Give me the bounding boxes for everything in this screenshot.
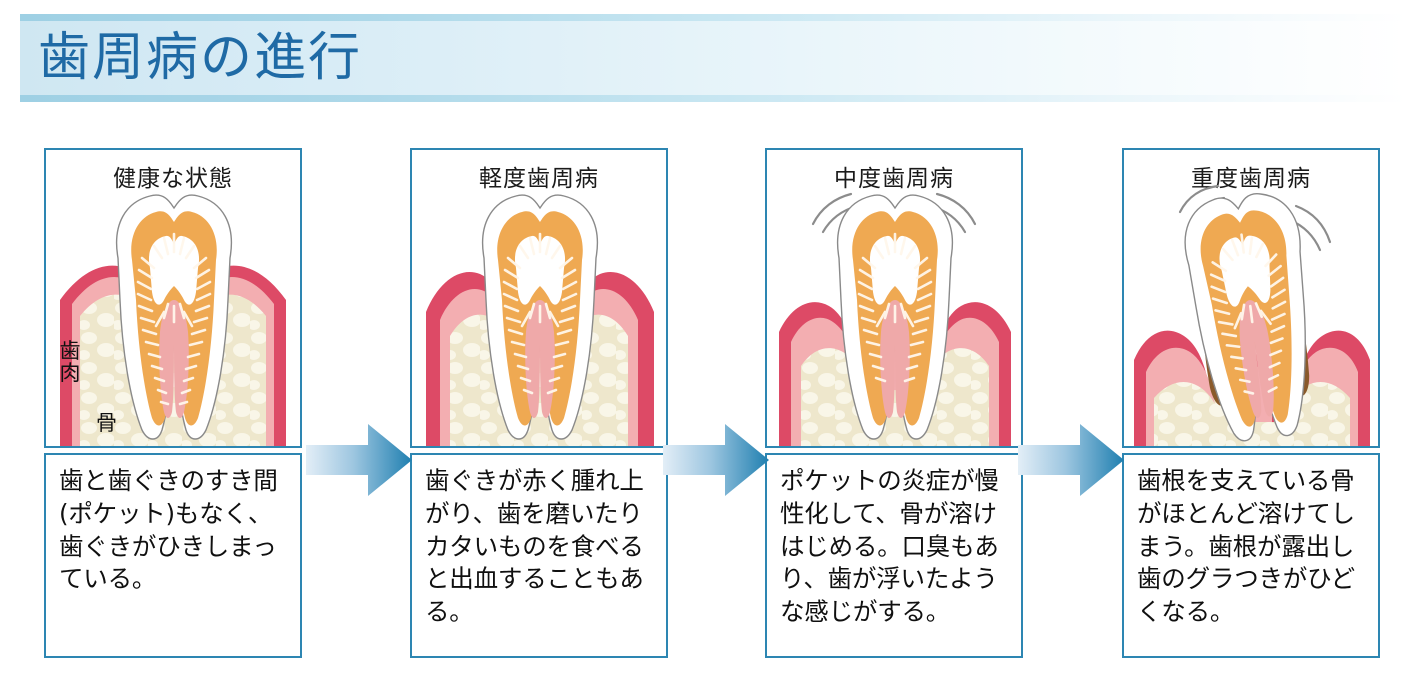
progression-arrow-3 <box>1018 420 1124 500</box>
illustration-box-mild: 軽度歯周病 <box>410 148 668 448</box>
tooth-diagram-healthy <box>46 150 300 446</box>
caption-box-severe: 歯根を支えている骨がほとんど溶けてしまう。歯根が露出し歯のグラつきがひどくなる。 <box>1122 453 1380 658</box>
progression-arrow-1 <box>306 420 412 500</box>
page-title: 歯周病の進行 <box>38 32 362 84</box>
infographic-root: 歯周病の進行 健康な状態 <box>0 0 1406 675</box>
stage-panel-healthy: 健康な状態 <box>44 148 302 658</box>
label-bone: 骨 <box>96 412 117 434</box>
caption-box-healthy: 歯と歯ぐきのすき間(ポケット)もなく、歯ぐきがひきしまっている。 <box>44 453 302 658</box>
caption-box-moderate: ポケットの炎症が慢性化して、骨が溶けはじめる。口臭もあり、歯が浮いたような感じが… <box>765 453 1023 658</box>
caption-text: 歯ぐきが赤く腫れ上がり、歯を磨いたりカタいものを食べると出血することもある。 <box>425 465 658 629</box>
tooth-diagram-moderate <box>767 150 1021 446</box>
banner-stripe-top <box>20 14 1406 21</box>
arrow-right-icon <box>1018 420 1124 500</box>
arrow-right-icon <box>663 420 769 500</box>
banner-stripe-bottom <box>20 95 1406 102</box>
stage-panel-mild: 軽度歯周病 <box>410 148 668 658</box>
caption-text: 歯と歯ぐきのすき間(ポケット)もなく、歯ぐきがひきしまっている。 <box>59 465 292 596</box>
caption-text: ポケットの炎症が慢性化して、骨が溶けはじめる。口臭もあり、歯が浮いたような感じが… <box>780 465 1013 629</box>
illustration-box-severe: 重度歯周病 <box>1122 148 1380 448</box>
label-gingiva: 歯肉 <box>58 340 82 384</box>
stage-panel-severe: 重度歯周病 <box>1122 148 1380 658</box>
progression-arrow-2 <box>663 420 769 500</box>
tooth-diagram-mild <box>412 150 666 446</box>
stages-row: 健康な状態 <box>0 148 1406 663</box>
stage-panel-moderate: 中度歯周病 <box>765 148 1023 658</box>
title-banner: 歯周病の進行 <box>20 14 1406 102</box>
illustration-box-healthy: 健康な状態 <box>44 148 302 448</box>
arrow-right-icon <box>306 420 412 500</box>
caption-text: 歯根を支えている骨がほとんど溶けてしまう。歯根が露出し歯のグラつきがひどくなる。 <box>1137 465 1370 629</box>
tooth-diagram-severe <box>1124 150 1378 446</box>
caption-box-mild: 歯ぐきが赤く腫れ上がり、歯を磨いたりカタいものを食べると出血することもある。 <box>410 453 668 658</box>
illustration-box-moderate: 中度歯周病 <box>765 148 1023 448</box>
